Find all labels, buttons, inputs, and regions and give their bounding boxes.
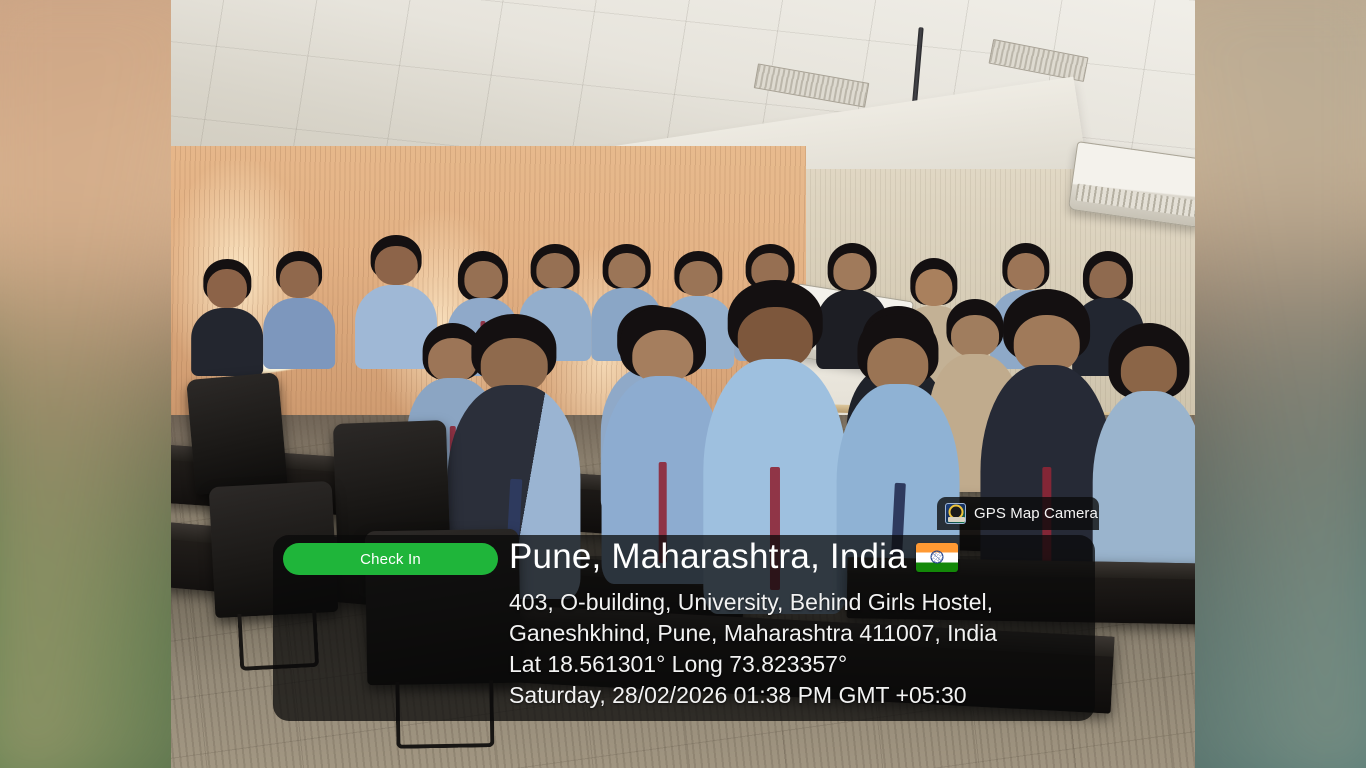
head bbox=[608, 253, 645, 287]
empty-chair bbox=[333, 420, 450, 547]
head bbox=[915, 269, 952, 306]
head bbox=[833, 253, 870, 290]
coordinates-line: Lat 18.561301° Long 73.823357° bbox=[509, 649, 997, 680]
timestamp-line: Saturday, 28/02/2026 01:38 PM GMT +05:30 bbox=[509, 680, 997, 711]
person bbox=[191, 269, 263, 377]
head bbox=[375, 246, 418, 285]
stamp-detail-lines: 403, O-building, University, Behind Girl… bbox=[509, 587, 997, 711]
head bbox=[1089, 261, 1126, 298]
address-line-1: 403, O-building, University, Behind Girl… bbox=[509, 587, 997, 618]
watermark-label: GPS Map Camera bbox=[974, 505, 1098, 522]
check-in-button[interactable]: Check In bbox=[283, 543, 498, 575]
torso bbox=[191, 308, 263, 377]
gps-stamp-overlay: Check In Pune, Maharashtra, India 403, O… bbox=[273, 535, 1095, 721]
head bbox=[465, 261, 502, 298]
head bbox=[1121, 346, 1177, 397]
place-title-text: Pune, Maharashtra, India bbox=[509, 537, 907, 577]
gps-map-camera-watermark: GPS Map Camera bbox=[937, 497, 1099, 530]
head bbox=[207, 269, 247, 308]
head bbox=[1007, 253, 1044, 290]
place-title: Pune, Maharashtra, India bbox=[509, 537, 958, 577]
torso bbox=[263, 298, 335, 369]
head bbox=[280, 261, 319, 298]
gps-map-camera-app-icon bbox=[945, 503, 966, 524]
head bbox=[680, 261, 717, 295]
india-flag-icon bbox=[916, 543, 958, 572]
person bbox=[263, 261, 335, 369]
screenshot-root: GPS Map Camera Check In Pune, Maharashtr… bbox=[0, 0, 1366, 768]
head bbox=[536, 253, 573, 287]
empty-chair bbox=[187, 373, 289, 496]
address-line-2: Ganeshkhind, Pune, Maharashtra 411007, I… bbox=[509, 618, 997, 649]
